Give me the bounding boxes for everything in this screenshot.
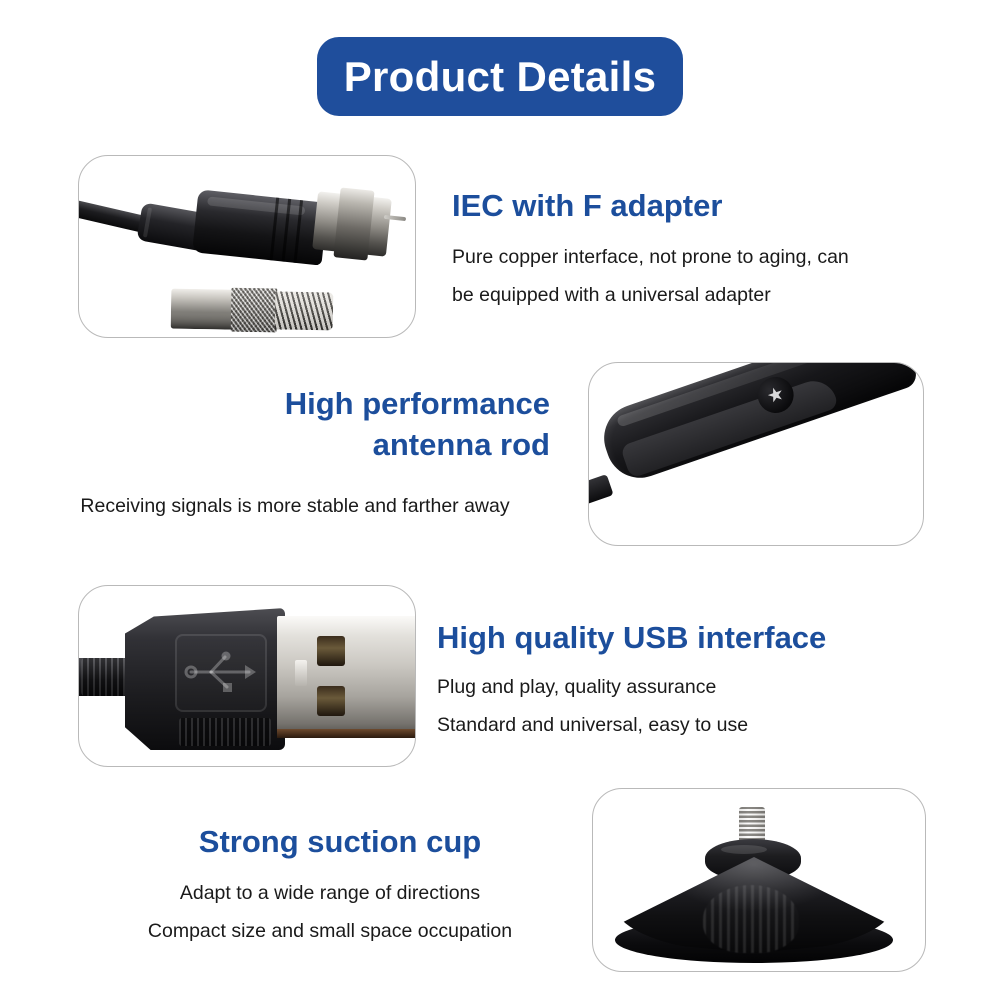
connector-groove [270, 198, 280, 261]
usb-shell-slot [317, 636, 345, 666]
section-heading-suction-cup: Strong suction cup [120, 822, 560, 863]
adapter-smooth-section [171, 289, 234, 330]
connector-groove [294, 200, 304, 263]
suction-cup-highlight [703, 885, 799, 953]
suction-cup-illustration [593, 789, 925, 971]
section-description-iec-f-adapter: Pure copper interface, not prone to agin… [452, 238, 944, 314]
usb-shell-slot [317, 686, 345, 716]
page-title: Product Details [344, 53, 657, 101]
section-description-suction-cup: Adapt to a wide range of directions Comp… [95, 874, 565, 950]
connector-body [192, 189, 328, 265]
iec-adapter-illustration [79, 156, 415, 337]
section-heading-antenna-rod: High performance antenna rod [120, 384, 550, 466]
product-photo-iec-f-adapter [78, 155, 416, 338]
usb-trident-icon [181, 642, 261, 704]
usb-connector-illustration [79, 586, 415, 766]
hex-nut [333, 187, 374, 260]
adapter-threaded-end [275, 291, 334, 330]
product-photo-antenna-rod: ★ [588, 362, 924, 546]
section-heading-iec-f-adapter: IEC with F adapter [452, 186, 952, 227]
connector-groove [282, 199, 292, 262]
product-photo-usb-connector [78, 585, 416, 767]
antenna-rod-panel [620, 375, 839, 479]
product-details-badge: Product Details [317, 37, 683, 116]
usb-retention-tab [295, 660, 307, 686]
antenna-rod-body: ★ [595, 362, 920, 487]
f-adapter-barrel [171, 285, 332, 336]
antenna-connector-tip [588, 474, 614, 506]
antenna-rod-illustration: ★ [589, 363, 923, 545]
section-heading-usb-interface: High quality USB interface [437, 618, 957, 659]
product-photo-suction-cup [592, 788, 926, 972]
section-description-antenna-rod: Receiving signals is more stable and far… [40, 487, 550, 525]
section-description-usb-interface: Plug and play, quality assurance Standar… [437, 668, 957, 744]
usb-hood-ribs [179, 718, 271, 746]
adapter-knurled-grip [231, 288, 278, 333]
